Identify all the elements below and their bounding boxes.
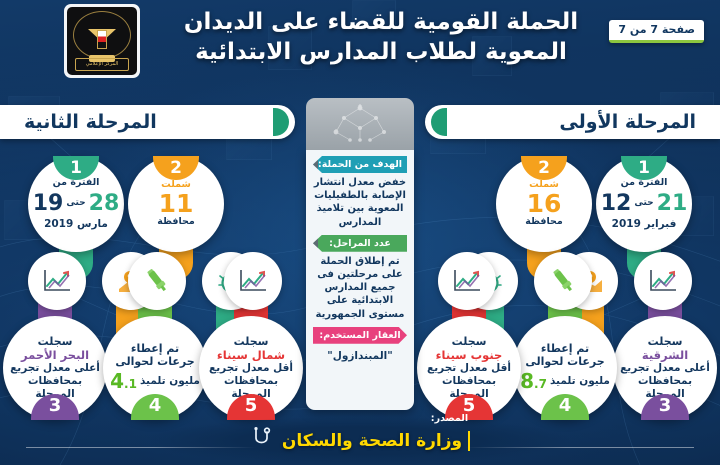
egypt-eagle-emblem-icon [87,27,117,59]
title-line-2: المعوية لطلاب المدارس الابتدائية [150,38,612,68]
fact-line-3: مليون تلميذ [140,375,200,388]
stages-ribbon: عدد المراحل: [313,235,407,252]
fact-line-2: أقل معدل تجريع [427,362,511,375]
period-connector: حتى [66,198,85,208]
phase-one-fact-red: سجلت جنوب سيناء أقل معدل تجريع بمحافظات … [414,300,524,420]
chart-arrows-icon [634,252,692,310]
source-label: المصدر: [431,413,468,424]
period-connector: حتى [634,198,653,208]
stethoscope-icon [250,426,276,456]
coverage-unit: محافظة [157,217,195,227]
fact-line-1: سجلت [452,336,487,349]
period-month-year: مارس 2019 [44,218,108,230]
fact-line-2: أقل معدل تجريع [209,362,293,375]
infographic-canvas: المركز الإعلامي الحملة القومية للقضاء عل… [0,0,720,465]
medical-network-icon [306,98,414,150]
fact-line-3: مليون تلميذ [550,375,610,388]
page-footer: المصدر: وزارة الصحة والسكان [0,417,720,465]
phase-one-panel: الفترة من 21 حتى 12 فبراير 2019 1 شملت 1… [416,140,716,425]
stages-text: تم إطلاق الحملة على مرحلتين فى جميع المد… [311,255,409,321]
period-to: 28 [89,191,120,216]
fact-highlight: البحر الأحمر [21,349,89,363]
phase-bar-accent [273,108,289,136]
syringe-icon [128,252,186,310]
goal-text: خفض معدل انتشار الإصابة بالطفيليات المعو… [311,176,409,229]
phase-two-panel: الفترة من 28 حتى 19 مارس 2019 1 شملت 11 … [4,140,304,425]
stages-ribbon-label: عدد المراحل: [329,238,391,249]
coverage-count: 16 [527,191,562,217]
period-from: 19 [33,191,64,216]
fact-line-1: سجلت [38,336,73,349]
source-name: وزارة الصحة والسكان [282,431,470,451]
phase-two-header-bar: المرحلة الثانية [0,105,295,139]
phase-one-label: المرحلة الأولى [559,111,696,133]
period-month-year: فبراير 2019 [612,218,677,230]
phase-one-header-bar: المرحلة الأولى [425,105,720,139]
phase-one-fact-purple: سجلت الشرقية أعلى معدل تجريع بمحافظات ال… [610,300,720,420]
coverage-count: 11 [159,191,194,217]
fact-highlight: شمال سيناء [217,349,285,363]
fact-line-2: أعلى معدل تجريع [10,362,100,375]
fact-highlight: الشرقية [642,349,688,363]
drug-ribbon: العقار المستخدم: [313,327,407,344]
drug-name: "المبندازول" [327,350,392,362]
page-number-badge: صفحة 7 من 7 [609,20,704,43]
coverage-unit: محافظة [525,217,563,227]
chart-arrows-icon [28,252,86,310]
page-header: المركز الإعلامي الحملة القومية للقضاء عل… [0,0,720,88]
campaign-summary-body: الهدف من الحملة: خفض معدل انتشار الإصابة… [306,150,414,410]
chart-arrows-icon [438,252,496,310]
dose-value: 8.7 [520,369,547,393]
fact-line-2: جرعات لحوالى [525,356,604,369]
dose-value: 4.1 [110,369,137,393]
organization-logo: المركز الإعلامي [64,4,140,78]
logo-caption: المركز الإعلامي [75,58,129,71]
goal-ribbon: الهدف من الحملة: [313,156,407,173]
syringe-icon [534,252,592,310]
phase-bar-accent [431,108,447,136]
period-to: 21 [657,191,688,216]
period-from: 12 [601,191,632,216]
goal-ribbon-label: الهدف من الحملة: [318,159,402,170]
phase-two-label: المرحلة الثانية [24,111,157,133]
title-line-1: الحملة القومية للقضاء على الديدان [150,8,612,38]
fact-highlight: جنوب سيناء [436,349,503,363]
phase-two-fact-purple: سجلت البحر الأحمر أعلى معدل تجريع بمحافظ… [0,300,110,420]
fact-line-1: سجلت [234,336,269,349]
drug-ribbon-label: العقار المستخدم: [319,330,400,341]
phase-two-fact-red: سجلت شمال سيناء أقل معدل تجريع بمحافظات … [196,300,306,420]
campaign-summary-card: الهدف من الحملة: خفض معدل انتشار الإصابة… [306,98,414,410]
chart-arrows-icon [224,252,282,310]
page-title: الحملة القومية للقضاء على الديدان المعوي… [150,8,612,68]
fact-line-2: أعلى معدل تجريع [620,362,710,375]
fact-line-1: سجلت [648,336,683,349]
fact-line-2: جرعات لحوالى [115,356,194,369]
